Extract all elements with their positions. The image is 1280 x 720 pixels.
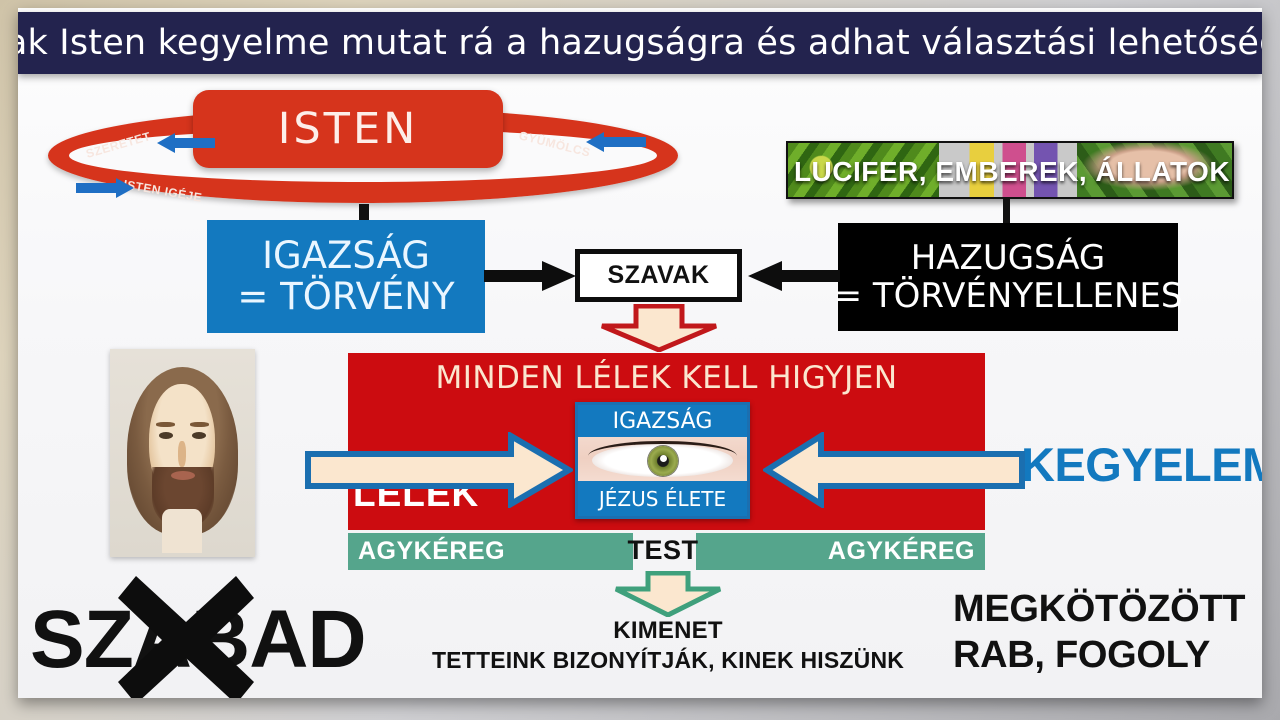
eye-panel: IGAZSÁG JÉZUS ÉLETE <box>575 402 750 519</box>
portrait-nose <box>178 441 186 467</box>
arrow-igazsag-to-szavak-icon <box>484 261 576 296</box>
outcome-line1: KIMENET <box>348 616 988 646</box>
lucifer-emberek-allatok-banner: LUCIFER, EMBEREK, ÁLLATOK <box>786 141 1234 199</box>
hazugsag-torvenyellenes-box: HAZUGSÁG = TÖRVÉNYELLENES <box>838 223 1178 331</box>
isten-box: ISTEN <box>193 90 503 168</box>
arrow-kegyelem-to-eye-icon <box>763 432 1025 513</box>
igazsag-line1: IGAZSÁG <box>262 236 430 277</box>
page-title: Csak Isten kegyelme mutat rá a hazugságr… <box>18 12 1262 74</box>
portrait-brow-right <box>190 422 209 427</box>
bound-verdict: MEGKÖTÖZÖTT RAB, FOGOLY <box>953 586 1253 679</box>
bound-line2: RAB, FOGOLY <box>953 632 1253 678</box>
arrow-body-to-outcome-icon <box>612 571 724 622</box>
test-label: TEST <box>618 535 708 566</box>
hazugsag-line2: = TÖRVÉNYELLENES <box>834 277 1183 315</box>
portrait-brow-left <box>156 422 175 427</box>
bound-line1: MEGKÖTÖZÖTT <box>953 586 1253 632</box>
isten-label: ISTEN <box>278 104 419 154</box>
portrait-eye-right <box>192 432 206 439</box>
cross-out-x-icon <box>118 576 254 698</box>
arrow-hazugsag-to-szavak-icon <box>748 261 840 296</box>
cycle-arrow-left-icon <box>155 133 215 153</box>
agykereg-right-bar: AGYKÉREG <box>696 533 985 570</box>
slide-canvas: Csak Isten kegyelme mutat rá a hazugságr… <box>18 8 1262 698</box>
outcome-line2: TETTEINK BIZONYÍTJÁK, KINEK HISZÜNK <box>348 646 988 675</box>
eye-panel-top-label: IGAZSÁG <box>578 405 747 437</box>
minden-lelek-heading: MINDEN LÉLEK KELL HIGYJEN <box>348 360 985 396</box>
igazsag-line2: = TÖRVÉNY <box>237 277 454 318</box>
kegyelem-label: KEGYELEM <box>1021 437 1262 492</box>
cycle-arrow-right-icon <box>584 132 646 152</box>
portrait-mouth <box>171 471 195 480</box>
isten-to-igazsag-connector <box>359 204 369 220</box>
lucifer-banner-label: LUCIFER, EMBEREK, ÁLLATOK <box>788 143 1234 199</box>
szabad-verdict: SZABAD <box>30 593 370 683</box>
szavak-box: SZAVAK <box>575 249 742 302</box>
banner-to-hazugsag-connector <box>1003 198 1010 225</box>
portrait-neck <box>162 509 202 553</box>
cycle-arrow-bottom-icon <box>76 178 136 198</box>
outcome-text: KIMENET TETTEINK BIZONYÍTJÁK, KINEK HISZ… <box>348 616 988 675</box>
szavak-label: SZAVAK <box>607 261 709 290</box>
arrow-lelek-to-eye-icon <box>305 432 573 513</box>
arrow-szavak-to-soul-icon <box>596 304 722 357</box>
slide-title-bar: Csak Isten kegyelme mutat rá a hazugságr… <box>18 12 1262 74</box>
jesus-portrait <box>110 349 255 557</box>
hazugsag-line1: HAZUGSÁG <box>911 239 1106 277</box>
agykereg-left-bar: AGYKÉREG <box>348 533 633 570</box>
eye-lashes <box>588 441 737 456</box>
portrait-eye-left <box>159 432 173 439</box>
agykereg-right-label: AGYKÉREG <box>828 537 975 566</box>
agykereg-left-label: AGYKÉREG <box>358 537 505 566</box>
igazsag-torveny-box: IGAZSÁG = TÖRVÉNY <box>207 220 485 333</box>
eye-panel-bottom-label: JÉZUS ÉLETE <box>578 481 747 516</box>
eye-photo <box>578 437 747 484</box>
